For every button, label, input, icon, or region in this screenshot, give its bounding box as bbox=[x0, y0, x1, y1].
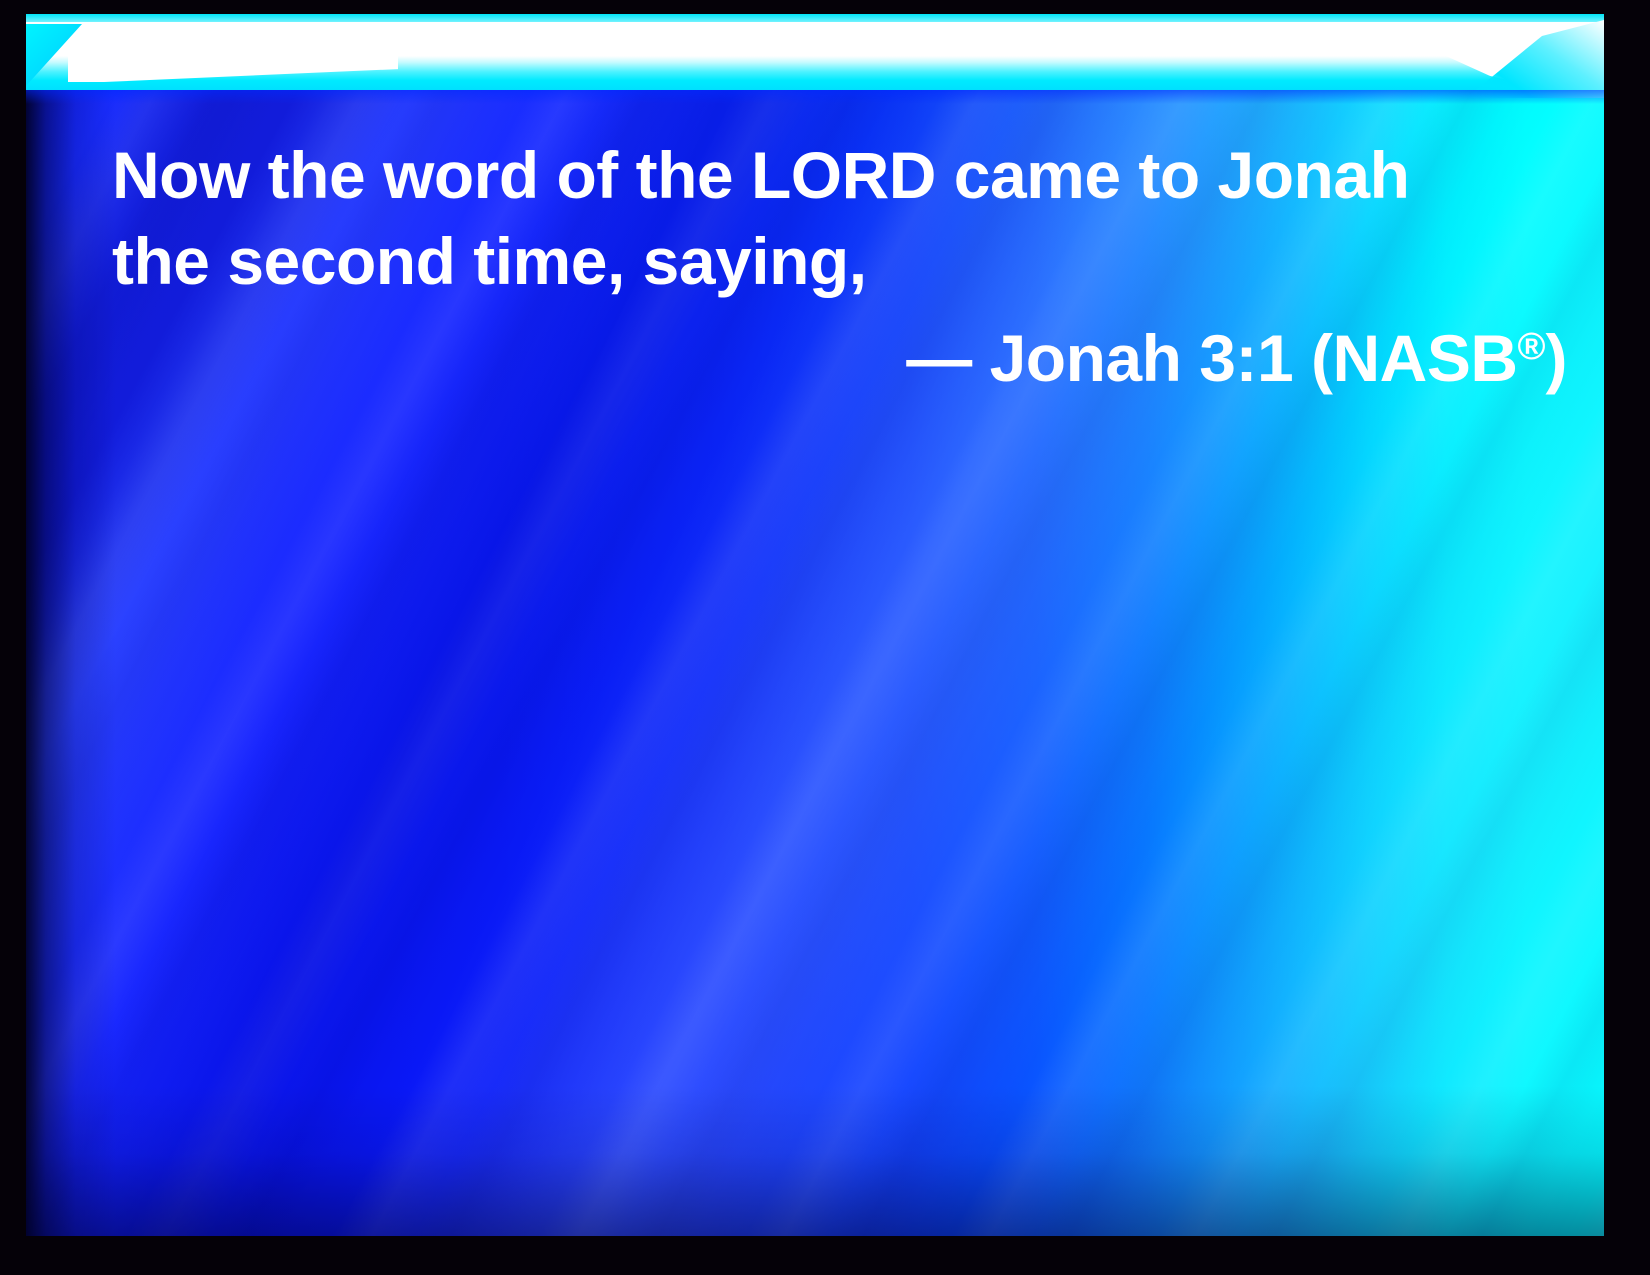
attribution-open-paren: ( bbox=[1311, 321, 1332, 395]
scripture-slide: Now the word of the LORD came to Jonah t… bbox=[0, 0, 1650, 1275]
attribution-spacer-1 bbox=[972, 321, 990, 395]
attribution-dash: — bbox=[906, 321, 972, 395]
verse-attribution: — Jonah 3:1 (NASB®) bbox=[112, 304, 1567, 401]
verse-line-1: Now the word of the LORD came to Jonah bbox=[112, 132, 1582, 218]
verse-line-2: the second time, saying, bbox=[112, 218, 1582, 304]
attribution-reference: 3:1 bbox=[1199, 321, 1293, 395]
header-band-drop-shadow bbox=[26, 90, 1604, 104]
attribution-spacer-3 bbox=[1293, 321, 1311, 395]
attribution-close-paren: ) bbox=[1546, 321, 1567, 395]
slide-canvas: Now the word of the LORD came to Jonah t… bbox=[26, 14, 1604, 1236]
attribution-translation: NASB bbox=[1333, 321, 1518, 395]
verse-text-block: Now the word of the LORD came to Jonah t… bbox=[112, 132, 1582, 304]
attribution-spacer-2 bbox=[1181, 321, 1199, 395]
registered-trademark-icon: ® bbox=[1518, 326, 1546, 368]
header-band bbox=[26, 14, 1604, 96]
attribution-book: Jonah bbox=[990, 321, 1182, 395]
background-left-shadow bbox=[26, 14, 116, 1236]
background-bottom-shadow bbox=[26, 1086, 1604, 1236]
